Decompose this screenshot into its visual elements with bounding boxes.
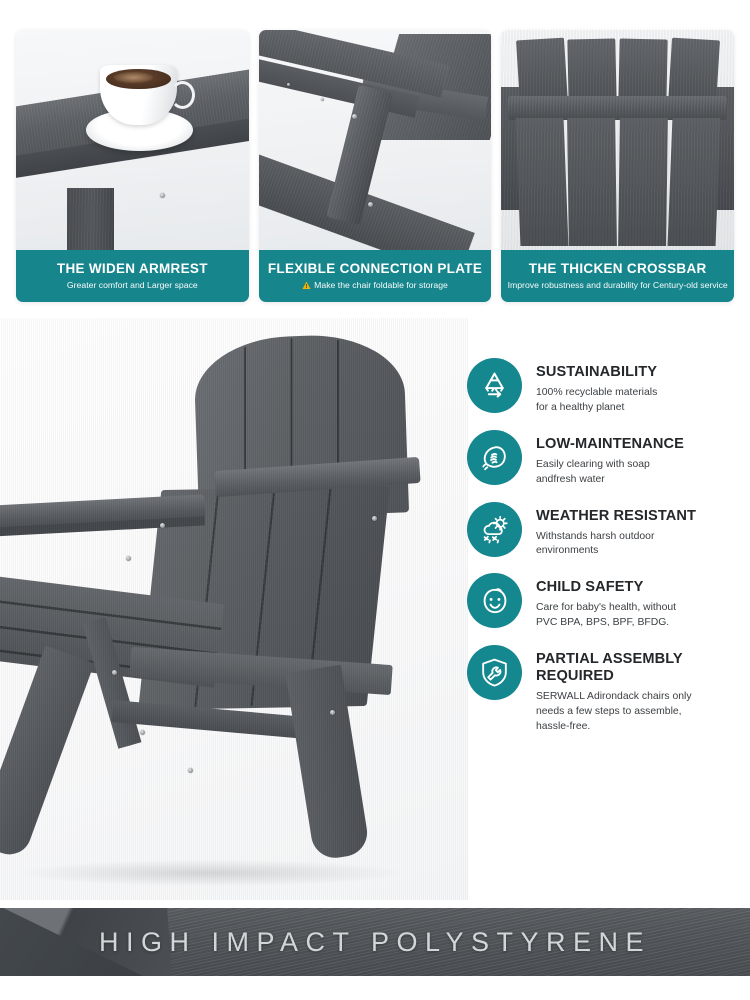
feature-description: Withstands harsh outdoor environments: [536, 530, 696, 560]
screw-icon: [126, 556, 131, 561]
feature-child-safety[interactable]: CHILD SAFETY Care for baby's health, wit…: [467, 573, 750, 631]
panel-widen-armrest[interactable]: THE WIDEN ARMREST Greater comfort and La…: [16, 30, 249, 302]
armrest-with-coffee-cup-photo: [16, 30, 249, 250]
feature-title: LOW-MAINTENANCE: [536, 436, 684, 453]
screw-icon: [160, 193, 165, 198]
feature-photo-panels: THE WIDEN ARMREST Greater comfort and La…: [16, 30, 734, 302]
screw-icon: [160, 523, 165, 528]
screw-icon: [321, 98, 324, 101]
banner-text: HIGH IMPACT POLYSTYRENE: [0, 908, 750, 976]
feature-title: WEATHER RESISTANT: [536, 508, 696, 525]
feature-description: Easily clearing with soap andfresh water: [536, 458, 684, 488]
panel-thicken-crossbar[interactable]: THE THICKEN CROSSBAR Improve robustness …: [501, 30, 734, 302]
feature-weather-resistant[interactable]: WEATHER RESISTANT Withstands harsh outdo…: [467, 502, 750, 560]
feature-title: CHILD SAFETY: [536, 579, 676, 596]
feature-title: SUSTAINABILITY: [536, 364, 657, 381]
panel-caption: THE WIDEN ARMREST Greater comfort and La…: [16, 250, 249, 302]
chair-back-crossbar-photo: [501, 30, 734, 250]
feature-sustainability[interactable]: SUSTAINABILITY 100% recyclable materials…: [467, 358, 750, 416]
feature-list: SUSTAINABILITY 100% recyclable materials…: [467, 358, 750, 749]
screw-icon: [112, 670, 117, 675]
material-banner: HIGH IMPACT POLYSTYRENE: [0, 908, 750, 976]
panel-subtitle: Greater comfort and Larger space: [67, 280, 198, 291]
feature-title: PARTIAL ASSEMBLY REQUIRED: [536, 651, 692, 685]
feature-description: 100% recyclable materials for a healthy …: [536, 386, 657, 416]
gray-folding-adirondack-chair-photo: [0, 318, 468, 900]
feature-description: Care for baby's health, without PVC BPA,…: [536, 601, 676, 631]
screw-icon: [188, 768, 193, 773]
feature-partial-assembly-required[interactable]: PARTIAL ASSEMBLY REQUIRED SERWALL Adiron…: [467, 645, 750, 735]
screw-icon: [372, 516, 377, 521]
sun-cloud-snow-icon: [467, 502, 522, 557]
baby-face-icon: [467, 573, 522, 628]
feature-low-maintenance[interactable]: LOW-MAINTENANCE Easily clearing with soa…: [467, 430, 750, 488]
panel-caption: THE THICKEN CROSSBAR Improve robustness …: [501, 250, 734, 302]
hand-wiping-cloth-icon: [467, 430, 522, 485]
screw-icon: [140, 730, 145, 735]
panel-flexible-connection-plate[interactable]: FLEXIBLE CONNECTION PLATE Make the chair…: [259, 30, 492, 302]
screw-icon: [368, 202, 373, 207]
panel-caption: FLEXIBLE CONNECTION PLATE Make the chair…: [259, 250, 492, 302]
panel-subtitle: Improve robustness and durability for Ce…: [508, 280, 728, 291]
feature-description: SERWALL Adirondack chairs only needs a f…: [536, 690, 692, 734]
panel-title: FLEXIBLE CONNECTION PLATE: [268, 261, 482, 277]
connection-plate-closeup-photo: [259, 30, 492, 250]
warning-triangle-icon: [302, 281, 311, 290]
screw-icon: [352, 114, 357, 119]
panel-subtitle: Make the chair foldable for storage: [302, 280, 448, 291]
recycle-icon: [467, 358, 522, 413]
screw-icon: [287, 83, 290, 86]
screw-icon: [330, 710, 335, 715]
panel-title: THE WIDEN ARMREST: [57, 261, 208, 277]
panel-title: THE THICKEN CROSSBAR: [529, 261, 707, 277]
shield-wrench-icon: [467, 645, 522, 700]
